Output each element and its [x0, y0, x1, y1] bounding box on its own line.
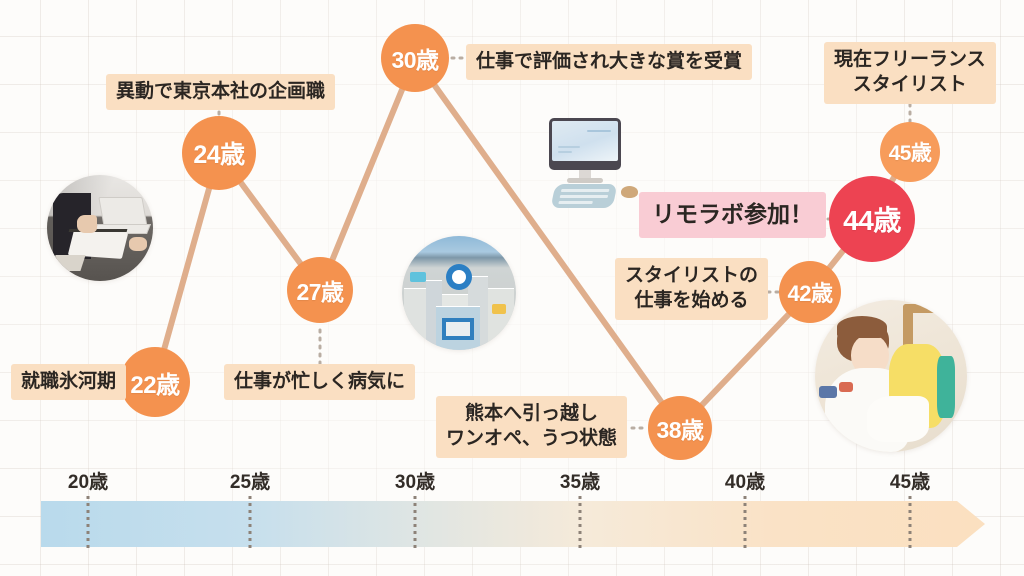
- node-age-45[interactable]: 45歳: [880, 122, 940, 182]
- node-age-30[interactable]: 30歳: [381, 24, 449, 92]
- node-age-24[interactable]: 24歳: [182, 116, 256, 190]
- label-award: 仕事で評価され大きな賞を受賞: [466, 44, 752, 80]
- label-kumamoto-line1: 熊本へ引っ越し: [446, 401, 617, 426]
- label-ice-age: 就職氷河期: [11, 364, 126, 400]
- label-busy-illness: 仕事が忙しく病気に: [224, 364, 415, 400]
- label-stylist-start: スタイリストの 仕事を始める: [615, 258, 768, 320]
- label-transfer-tokyo: 異動で東京本社の企画職: [106, 74, 335, 110]
- label-freelance-line2: スタイリスト: [834, 72, 986, 97]
- label-freelance: 現在フリーランス スタイリスト: [824, 42, 996, 104]
- node-age-44[interactable]: 44歳: [829, 176, 915, 262]
- label-kumamoto: 熊本へ引っ越し ワンオペ、うつ状態: [436, 396, 627, 458]
- label-freelance-line1: 現在フリーランス: [834, 47, 986, 72]
- node-age-27[interactable]: 27歳: [287, 257, 353, 323]
- node-age-38[interactable]: 38歳: [648, 396, 712, 460]
- label-remolabo: リモラボ参加！: [639, 192, 826, 238]
- label-stylist-line2: 仕事を始める: [625, 288, 758, 313]
- infographic-canvas: 22歳 24歳 27歳 30歳 38歳 42歳 44歳 45歳 就職氷河期 異動…: [0, 0, 1024, 576]
- node-age-42[interactable]: 42歳: [779, 261, 841, 323]
- label-kumamoto-line2: ワンオペ、うつ状態: [446, 426, 617, 451]
- node-age-22[interactable]: 22歳: [120, 347, 190, 417]
- label-stylist-line1: スタイリストの: [625, 263, 758, 288]
